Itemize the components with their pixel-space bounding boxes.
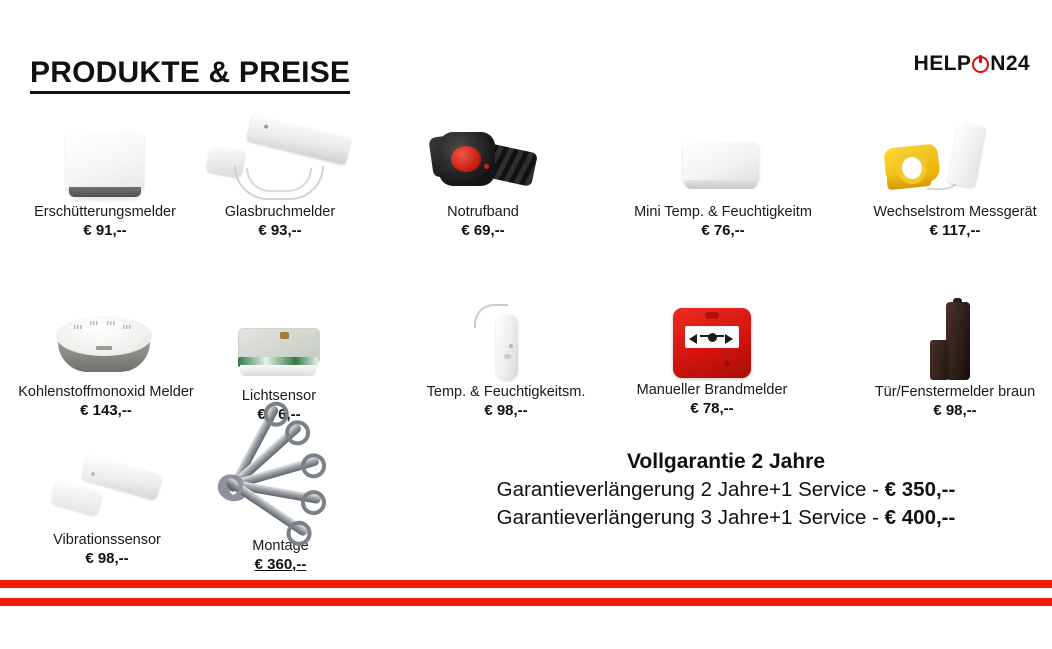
product-card-erschuetterungsmelder[interactable]: Erschütterungsmelder € 91,-- xyxy=(20,118,190,240)
product-price: € 117,-- xyxy=(855,222,1052,241)
product-card-montage[interactable]: Montage € 360,-- xyxy=(208,432,353,574)
product-image-tuer-fenstermelder-braun xyxy=(860,290,1050,384)
product-price: € 143,-- xyxy=(8,402,204,421)
logo-prefix: HELP xyxy=(914,52,972,76)
product-name: Mini Temp. & Feuchtigkeitm xyxy=(608,204,838,221)
product-price: € 93,-- xyxy=(190,222,370,241)
product-name: Temp. & Feuchtigkeitsm. xyxy=(406,384,606,401)
product-name: Kohlenstoffmonoxid Melder xyxy=(8,384,204,401)
product-image-manueller-brandmelder xyxy=(612,296,812,382)
logo-suffix: N24 xyxy=(990,52,1030,76)
warranty-line-1: Garantieverlängerung 2 Jahre+1 Service -… xyxy=(400,476,1052,504)
footer-red-bar-bottom xyxy=(0,598,1052,606)
product-name: Manueller Brandmelder xyxy=(612,382,812,399)
brand-logo: HELP N24 xyxy=(914,52,1030,76)
product-card-wechselstrom-messgeraet[interactable]: Wechselstrom Messgerät € 117,-- xyxy=(855,118,1052,240)
product-card-notrufband[interactable]: Notrufband € 69,-- xyxy=(398,118,568,240)
product-row-2: Kohlenstoffmonoxid Melder € 143,-- Licht… xyxy=(0,268,1052,420)
product-price: € 98,-- xyxy=(860,402,1050,421)
product-name: Vibrationssensor xyxy=(22,532,192,549)
product-image-temp-feuchtigkeitsm xyxy=(406,290,606,384)
product-image-montage xyxy=(208,432,353,538)
product-card-manueller-brandmelder[interactable]: Manueller Brandmelder € 78,-- xyxy=(612,296,812,418)
product-image-wechselstrom-messgeraet xyxy=(855,118,1052,204)
product-name: Notrufband xyxy=(398,204,568,221)
product-image-glasbruchmelder xyxy=(190,118,370,204)
product-card-vibrationssensor[interactable]: Vibrationssensor € 98,-- xyxy=(22,446,192,568)
product-name: Glasbruchmelder xyxy=(190,204,370,221)
warranty-title: Vollgarantie 2 Jahre xyxy=(400,448,1052,476)
warranty-block: Vollgarantie 2 Jahre Garantieverlängerun… xyxy=(400,448,1052,532)
product-card-glasbruchmelder[interactable]: Glasbruchmelder € 93,-- xyxy=(190,118,370,240)
product-image-lichtsensor xyxy=(204,302,354,388)
product-price: € 98,-- xyxy=(22,550,192,569)
warranty-line-1-price: € 350,-- xyxy=(885,478,956,501)
warranty-line-2-price: € 400,-- xyxy=(885,506,956,529)
product-price: € 69,-- xyxy=(398,222,568,241)
product-price: € 78,-- xyxy=(612,400,812,419)
product-price: € 91,-- xyxy=(20,222,190,241)
product-row-1: Erschütterungsmelder € 91,-- Glasbruchme… xyxy=(0,118,1052,268)
product-name: Tür/Fenstermelder braun xyxy=(860,384,1050,401)
product-image-vibrationssensor xyxy=(22,446,192,532)
product-price: € 360,-- xyxy=(208,556,353,575)
product-image-notrufband xyxy=(398,118,568,204)
footer-red-bar-top xyxy=(0,580,1052,588)
product-card-temp-feuchtigkeitsm[interactable]: Temp. & Feuchtigkeitsm. € 98,-- xyxy=(406,290,606,420)
warranty-line-2: Garantieverlängerung 3 Jahre+1 Service -… xyxy=(400,504,1052,532)
product-image-erschuetterungsmelder xyxy=(20,118,190,204)
page-title: PRODUKTE & PREISE xyxy=(30,57,350,94)
product-name: Montage xyxy=(208,538,353,555)
product-image-mini-temp-feuchtigkeit xyxy=(608,118,838,204)
product-price: € 98,-- xyxy=(406,402,606,421)
warranty-line-1-text: Garantieverlängerung 2 Jahre+1 Service - xyxy=(497,478,885,501)
product-card-tuer-fenstermelder-braun[interactable]: Tür/Fenstermelder braun € 98,-- xyxy=(860,290,1050,420)
product-card-mini-temp-feuchtigkeit[interactable]: Mini Temp. & Feuchtigkeitm € 76,-- xyxy=(608,118,838,240)
power-symbol-icon xyxy=(972,56,989,73)
product-name: Erschütterungsmelder xyxy=(20,204,190,221)
product-name: Wechselstrom Messgerät xyxy=(855,204,1052,221)
product-card-kohlenstoffmonoxid-melder[interactable]: Kohlenstoffmonoxid Melder € 143,-- xyxy=(8,298,204,420)
product-image-kohlenstoffmonoxid-melder xyxy=(8,298,204,384)
warranty-line-2-text: Garantieverlängerung 3 Jahre+1 Service - xyxy=(497,506,885,529)
product-price: € 76,-- xyxy=(608,222,838,241)
